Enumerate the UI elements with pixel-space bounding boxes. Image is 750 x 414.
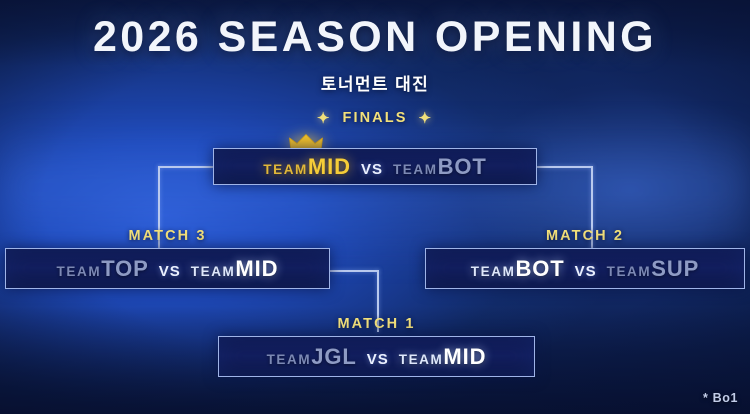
finals-right-team: TEAMBOT	[393, 154, 487, 180]
match2-vs-label: VS	[575, 263, 597, 280]
match2-right-team: TEAMSUP	[607, 256, 700, 282]
sparkle-left-icon: ✦	[317, 111, 332, 126]
match2-round-label: MATCH 2	[425, 228, 745, 244]
connector-match3-to-match1-horizontal	[330, 270, 379, 272]
match3-box[interactable]: TEAMTOP VS TEAMMID	[5, 248, 330, 289]
tournament-bracket-screen: 2026 SEASON OPENING 토너먼트 대진 ✦ FINALS ✦ T…	[0, 0, 750, 414]
match1-box[interactable]: TEAMJGL VS TEAMMID	[218, 336, 535, 377]
match3-round-label: MATCH 3	[5, 228, 330, 244]
finals-vs-label: VS	[361, 161, 383, 178]
finals-match-box[interactable]: TEAMMID VS TEAMBOT	[213, 148, 537, 185]
finals-round-label: ✦ FINALS ✦	[0, 110, 750, 126]
connector-finals-right-horizontal	[537, 166, 593, 168]
match3-right-team: TEAMMID	[191, 256, 279, 282]
sparkle-right-icon: ✦	[418, 111, 433, 126]
match3-text: TEAMTOP VS TEAMMID	[57, 256, 279, 282]
match1-vs-label: VS	[367, 351, 389, 368]
match3-left-team: TEAMTOP	[57, 256, 149, 282]
match1-left-team: TEAMJGL	[267, 344, 357, 370]
page-subtitle: 토너먼트 대진	[0, 70, 750, 95]
format-footnote: * Bo1	[703, 391, 738, 405]
finals-match-text: TEAMMID VS TEAMBOT	[263, 154, 487, 180]
header: 2026 SEASON OPENING 토너먼트 대진	[0, 16, 750, 95]
match3-vs-label: VS	[159, 263, 181, 280]
match1-right-team: TEAMMID	[399, 344, 487, 370]
match2-left-team: TEAMBOT	[471, 256, 565, 282]
match1-round-label: MATCH 1	[218, 316, 535, 332]
match1-text: TEAMJGL VS TEAMMID	[267, 344, 487, 370]
finals-label-text: FINALS	[343, 110, 408, 126]
match2-box[interactable]: TEAMBOT VS TEAMSUP	[425, 248, 745, 289]
connector-finals-left-horizontal	[158, 166, 214, 168]
finals-left-team: TEAMMID	[263, 154, 351, 180]
page-title: 2026 SEASON OPENING	[0, 16, 750, 59]
match2-text: TEAMBOT VS TEAMSUP	[471, 256, 699, 282]
